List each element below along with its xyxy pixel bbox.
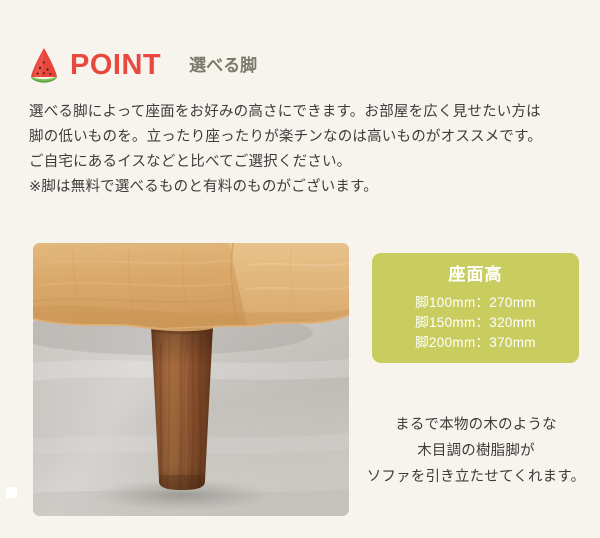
sofa-leg-photo [33, 243, 349, 516]
description-line-4: ※脚は無料で選べるものと有料のものがございます。 [29, 175, 579, 200]
description-line-1: 選べる脚によって座面をお好みの高さにできます。お部屋を広く見せたい方は [29, 100, 579, 125]
watermelon-icon [28, 47, 60, 83]
point-header: POINT 選べる脚 [28, 44, 257, 86]
spec-row-3: 脚200mm：370mm [372, 333, 579, 353]
page-title: POINT [70, 51, 161, 80]
spec-row-2: 脚150mm：320mm [372, 313, 579, 333]
edge-artifact [6, 487, 17, 498]
description-text: 選べる脚によって座面をお好みの高さにできます。お部屋を広く見せたい方は 脚の低い… [29, 100, 579, 200]
spec-box-title: 座面高 [372, 263, 579, 287]
caption-line-3: ソファを引き立たせてくれます。 [357, 464, 595, 490]
photo-caption: まるで本物の木のような 木目調の樹脂脚が ソファを引き立たせてくれます。 [357, 412, 595, 490]
spec-box-list: 脚100mm：270mm 脚150mm：320mm 脚200mm：370mm [372, 293, 579, 353]
description-line-3: ご自宅にあるイスなどと比べてご選択ください。 [29, 150, 579, 175]
seat-height-spec-box: 座面高 脚100mm：270mm 脚150mm：320mm 脚200mm：370… [372, 253, 579, 363]
spec-row-1: 脚100mm：270mm [372, 293, 579, 313]
page-subtitle: 選べる脚 [189, 57, 257, 74]
description-line-2: 脚の低いものを。立ったり座ったりが楽チンなのは高いものがオススメです。 [29, 125, 579, 150]
caption-line-1: まるで本物の木のような [357, 412, 595, 438]
caption-line-2: 木目調の樹脂脚が [357, 438, 595, 464]
